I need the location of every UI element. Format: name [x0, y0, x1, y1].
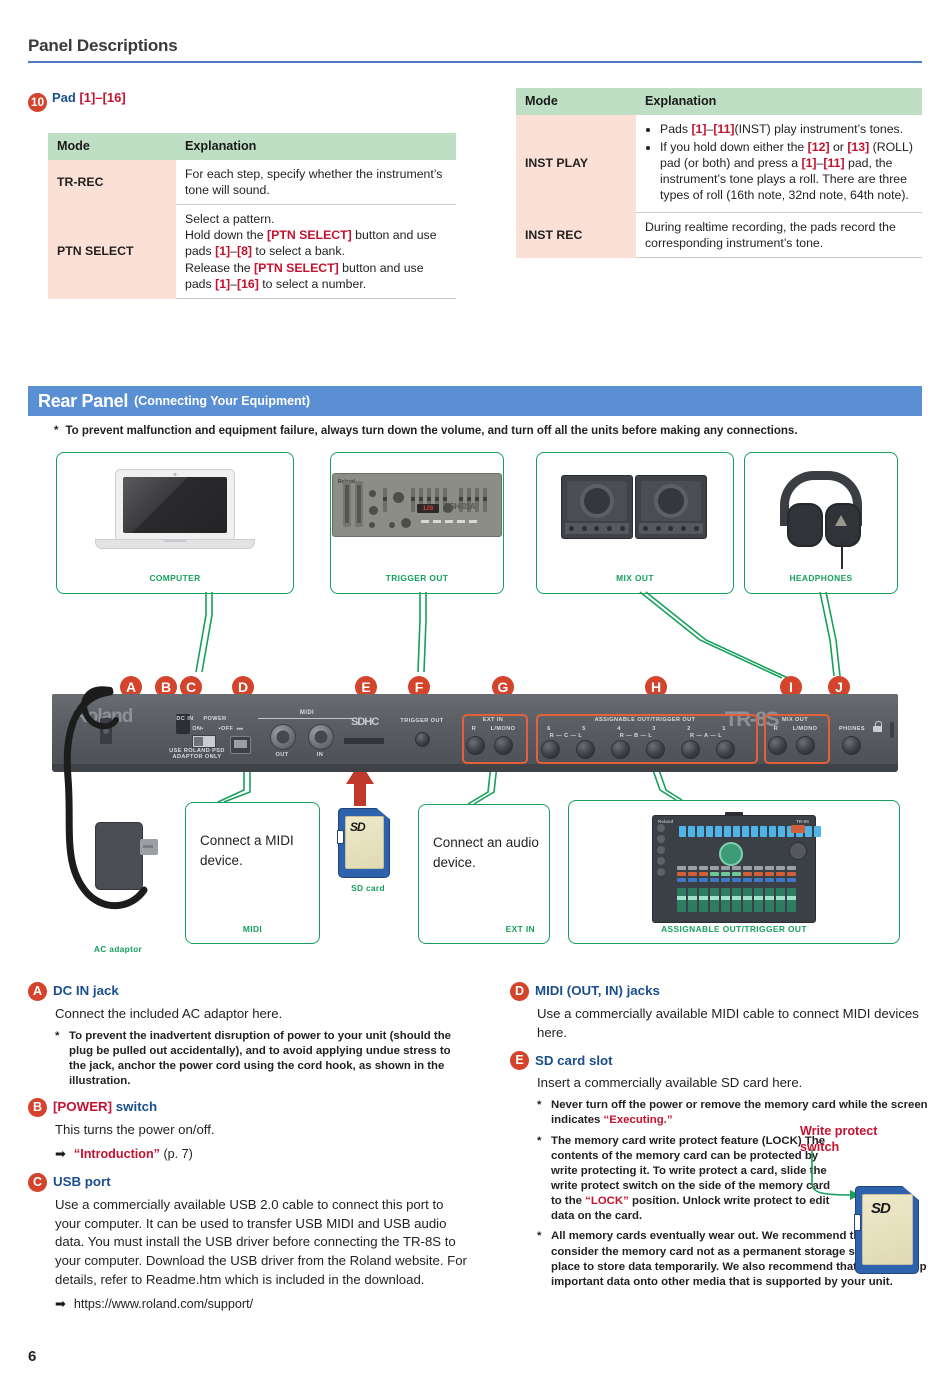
jack-number-2: 2 [684, 726, 694, 732]
speaker-grill [641, 481, 701, 521]
callout-midi: Connect a MIDI device. MIDI [185, 802, 320, 944]
note-emphasis: “Executing.” [604, 1114, 673, 1126]
sd-card-illustration: SD SD card [338, 808, 398, 893]
sd-logo-icon: SD [871, 1200, 890, 1217]
explanation-line: Release the [PTN SELECT] button and use … [185, 260, 447, 292]
item-note: * To prevent the inadvertent disruption … [55, 1029, 470, 1090]
table-row: INST PLAY Pads [1]–[11](INST) play instr… [516, 115, 922, 213]
item-heading: C USB port [28, 1173, 470, 1192]
callout-caption: EXT IN [506, 924, 535, 934]
explanation-bullet: If you hold down either the [12] or [13]… [660, 139, 913, 204]
callout-assignable-out: Roland TR-8S ASSIGNABLE OUT/TR [568, 800, 900, 944]
item-heading: E SD card slot [510, 1051, 930, 1070]
support-url-link[interactable]: ➡ https://www.roland.com/support/ [55, 1295, 470, 1314]
link-page: (p. 7) [163, 1147, 192, 1161]
col-explanation: Explanation [636, 88, 922, 115]
mix-out-r-jack[interactable] [768, 736, 787, 755]
adaptor-prong-icon [140, 839, 158, 855]
tr8s-model-label: TR-8S [796, 819, 809, 824]
device-box-caption: TRIGGER OUT [331, 573, 503, 583]
usb-port[interactable] [230, 736, 251, 754]
item-title: DC IN jack [53, 982, 119, 1001]
jack-number-1: 1 [719, 726, 729, 732]
write-protect-sd-illustration: SD [855, 1186, 919, 1274]
sdhc-logo-icon: SDHC [351, 716, 378, 728]
item-title-blue: switch [112, 1099, 157, 1114]
page-title: Panel Descriptions [28, 36, 922, 56]
device-box-mix-out: MIX OUT [536, 452, 734, 594]
item-title: SD card slot [535, 1052, 613, 1071]
callout-caption: MIDI [186, 924, 319, 934]
pad-range: [1]–[16] [79, 90, 125, 105]
speaker-panel [565, 523, 629, 534]
speaker-right-icon [635, 475, 707, 539]
laptop-screen-icon [123, 477, 227, 533]
trigger-out-label: TRIGGER OUT [388, 718, 456, 724]
table-header-row: Mode Explanation [48, 133, 456, 160]
letter-badge-a: A [28, 982, 47, 1001]
jack-pair-b: R — B — L [610, 733, 662, 739]
headphone-cup-left-icon [787, 503, 823, 547]
assignable-jack-3[interactable] [646, 740, 665, 759]
cross-reference-link[interactable]: ➡ “Introduction” (p. 7) [55, 1145, 470, 1164]
tr8s-value-knob [789, 842, 807, 860]
explanation-bullet: Pads [1]–[11](INST) play instrument’s to… [660, 121, 913, 137]
item-body: This turns the power on/off. [55, 1121, 470, 1140]
mix-out-label: MIX OUT [766, 717, 824, 723]
usb-icon: ⎓ [230, 724, 250, 734]
asterisk-marker: * [54, 425, 58, 437]
tr8s-top-panel-icon: Roland TR-8S [652, 815, 816, 923]
explanation-line: Hold down the [PTN SELECT] button and us… [185, 227, 447, 259]
item-body: Use a commercially available MIDI cable … [537, 1005, 930, 1042]
explanation-line: During realtime recording, the pads reco… [645, 219, 913, 251]
pad-section-heading: 10Pad [1]–[16] [28, 90, 126, 112]
jack-pair-a: R — A — L [680, 733, 732, 739]
device-box-headphones: HEADPHONES [744, 452, 898, 594]
ext-in-label: EXT IN [464, 717, 522, 723]
assignable-jack-1[interactable] [716, 740, 735, 759]
letter-badge-e: E [510, 1051, 529, 1070]
descriptions-left-column: A DC IN jack Connect the included AC ada… [28, 982, 470, 1323]
speaker-cone [654, 484, 688, 518]
note-emphasis: “LOCK” [585, 1195, 629, 1207]
power-label: POWER [190, 716, 240, 722]
headphone-logo-icon [835, 515, 847, 526]
write-protect-line1: Write protect [800, 1124, 877, 1138]
ac-adaptor-icon [95, 822, 143, 890]
item-title: [POWER] switch [53, 1098, 157, 1117]
assignable-out-label: ASSIGNABLE OUT/TRIGGER OUT [538, 717, 752, 723]
assignable-jack-6[interactable] [541, 740, 560, 759]
banner-note: *To prevent malfunction and equipment fa… [54, 424, 934, 439]
ext-in-l-label: L/MONO [486, 726, 520, 732]
mode-explanation: Pads [1]–[11](INST) play instrument’s to… [636, 115, 922, 213]
description-item-d: D MIDI (OUT, IN) jacks Use a commerciall… [510, 982, 930, 1042]
asterisk-marker: * [55, 1029, 69, 1090]
description-item-b: B [POWER] switch This turns the power on… [28, 1098, 470, 1164]
letter-badge-d: D [510, 982, 529, 1001]
synth-module-icon: Roland 128 SH-01A [332, 473, 502, 537]
headphones-illustration [745, 463, 897, 565]
device-box-trigger-out: Roland 128 SH-01A [330, 452, 504, 594]
jack-number-6: 6 [544, 726, 554, 732]
phones-label: PHONES [830, 726, 874, 732]
device-box-caption: MIX OUT [537, 573, 733, 583]
jack-number-4: 4 [614, 726, 624, 732]
asterisk-marker: * [537, 1229, 551, 1290]
ac-adaptor-caption: AC adaptor [70, 944, 166, 954]
table-row: TR-REC For each step, specify whether th… [48, 160, 456, 205]
pad-mode-table-left: Mode Explanation TR-REC For each step, s… [48, 133, 456, 299]
device-box-computer: COMPUTER [56, 452, 294, 594]
midi-out-label: OUT [268, 752, 296, 758]
panel-vent [890, 722, 894, 738]
sd-card-write-protect-notch [337, 830, 344, 844]
synth-illustration: Roland 128 SH-01A [331, 463, 503, 565]
item-note: * The memory card write protect feature … [537, 1134, 837, 1225]
assignable-jack-4[interactable] [611, 740, 630, 759]
arrow-icon: ➡ [55, 1145, 66, 1163]
sd-logo-icon: SD [350, 820, 365, 834]
table-row: PTN SELECT Select a pattern. Hold down t… [48, 205, 456, 299]
tr8s-jog-wheel [719, 842, 743, 866]
speakers-illustration [537, 463, 733, 565]
sd-card-slot[interactable] [344, 738, 384, 744]
computer-illustration [57, 463, 293, 565]
tr8s-bar [725, 812, 743, 816]
banner-subtitle: (Connecting Your Equipment) [134, 394, 310, 408]
write-protect-arrow [806, 1145, 862, 1203]
mode-explanation: Select a pattern. Hold down the [PTN SEL… [176, 205, 456, 299]
power-cord-illustration [58, 686, 188, 946]
midi-label: MIDI [262, 710, 352, 716]
item-body: Insert a commercially available SD card … [537, 1074, 930, 1093]
midi-in-label: IN [306, 752, 334, 758]
item-body: Connect the included AC adaptor here. [55, 1005, 470, 1024]
item-title: MIDI (OUT, IN) jacks [535, 982, 660, 1001]
midi-out-jack[interactable] [270, 724, 296, 750]
section-number-badge: 10 [28, 93, 47, 112]
ext-in-l-jack[interactable] [494, 736, 513, 755]
item-title: USB port [53, 1173, 111, 1192]
link-title: “Introduction” [74, 1147, 160, 1161]
mode-explanation: For each step, specify whether the instr… [176, 160, 456, 205]
assignable-jack-2[interactable] [681, 740, 700, 759]
mode-name: PTN SELECT [48, 205, 176, 299]
trigger-out-jack[interactable] [415, 732, 430, 747]
mode-name: TR-REC [48, 160, 176, 205]
item-heading: A DC IN jack [28, 982, 470, 1001]
item-heading: D MIDI (OUT, IN) jacks [510, 982, 930, 1001]
speaker-grill [567, 481, 627, 521]
table-row: INST REC During realtime recording, the … [516, 212, 922, 257]
speaker-left-icon [561, 475, 633, 539]
item-title-red: [POWER] [53, 1099, 112, 1114]
table-header-row: Mode Explanation [516, 88, 922, 115]
page-number: 6 [28, 1348, 36, 1365]
col-explanation: Explanation [176, 133, 456, 160]
mode-name: INST REC [516, 212, 636, 257]
header-rule [28, 61, 922, 63]
tr8s-fader-row [677, 888, 796, 912]
sd-card-icon-large: SD [855, 1186, 919, 1274]
jack-number-5: 5 [579, 726, 589, 732]
banner-title: Rear Panel [38, 391, 128, 412]
callout-text: Connect a MIDI device. [200, 831, 309, 870]
sd-card-write-protect-notch [854, 1214, 861, 1231]
assignable-jack-5[interactable] [576, 740, 595, 759]
laptop-notch-icon [163, 539, 187, 542]
mode-explanation: During realtime recording, the pads reco… [636, 212, 922, 257]
col-mode: Mode [48, 133, 176, 160]
kensington-lock-icon [873, 721, 882, 732]
manual-page: Panel Descriptions 10Pad [1]–[16] Mode E… [0, 0, 950, 1382]
callout-text: Connect an audio device. [433, 833, 539, 872]
url-text: https://www.roland.com/support/ [74, 1296, 253, 1314]
speaker-cone [580, 484, 614, 518]
item-body: Use a commercially available USB 2.0 cab… [55, 1196, 470, 1290]
speaker-panel [639, 523, 703, 534]
midi-in-jack[interactable] [308, 724, 334, 750]
laptop-camera-icon [174, 473, 177, 476]
rear-panel-banner: Rear Panel (Connecting Your Equipment) [28, 386, 922, 416]
power-switch[interactable] [192, 735, 216, 748]
pad-mode-table-right: Mode Explanation INST PLAY Pads [1]–[11]… [516, 88, 922, 258]
tr8s-start-button [791, 825, 805, 833]
phones-jack[interactable] [842, 736, 861, 755]
callout-caption: ASSIGNABLE OUT/TRIGGER OUT [569, 924, 899, 934]
asterisk-marker: * [537, 1134, 551, 1225]
item-heading: B [POWER] switch [28, 1098, 470, 1117]
tr8s-pad-row [677, 866, 796, 884]
power-on-label: ON▪ [185, 726, 211, 732]
ext-in-r-jack[interactable] [466, 736, 485, 755]
note-text: To prevent the inadvertent disruption of… [69, 1029, 470, 1090]
col-mode: Mode [516, 88, 636, 115]
tr8s-knob-column [657, 824, 665, 879]
banner-note-text: To prevent malfunction and equipment fai… [65, 425, 797, 437]
arrow-icon: ➡ [55, 1295, 66, 1313]
mix-out-l-jack[interactable] [796, 736, 815, 755]
midi-rule [258, 718, 354, 719]
letter-badge-c: C [28, 1173, 47, 1192]
device-box-caption: COMPUTER [57, 573, 293, 583]
ext-in-r-label: R [466, 726, 482, 732]
mix-out-r-label: R [768, 726, 784, 732]
sd-card-icon: SD [338, 808, 390, 878]
synth-model-label: SH-01A [450, 502, 475, 511]
explanation-line: For each step, specify whether the instr… [185, 166, 447, 198]
asterisk-marker: * [537, 1098, 551, 1128]
description-item-c: C USB port Use a commercially available … [28, 1173, 470, 1314]
explanation-line: Select a pattern. [185, 211, 447, 227]
mix-out-l-label: L/MONO [788, 726, 822, 732]
page-header: Panel Descriptions [28, 36, 922, 63]
description-item-a: A DC IN jack Connect the included AC ada… [28, 982, 470, 1089]
jack-number-3: 3 [649, 726, 659, 732]
jack-pair-c: R — C — L [540, 733, 592, 739]
headphone-cord-icon [841, 541, 843, 569]
letter-badge-b: B [28, 1098, 47, 1117]
mode-name: INST PLAY [516, 115, 636, 213]
laptop-lid-icon [115, 469, 235, 541]
callout-ext-in: Connect an audio device. EXT IN [418, 804, 550, 944]
pad-label: Pad [52, 90, 76, 105]
sd-card-caption: SD card [338, 883, 398, 893]
device-box-caption: HEADPHONES [745, 573, 897, 583]
